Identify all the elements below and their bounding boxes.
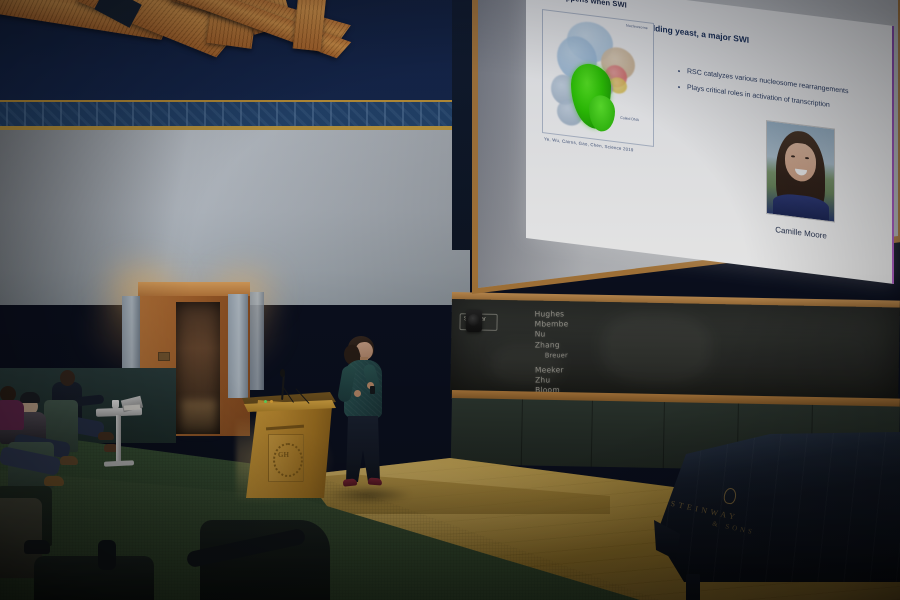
- coffee-cup: [112, 400, 119, 409]
- audience-member-shoe: [98, 432, 114, 440]
- chalkboard: Seminar Hughes Mbembe Nu Zhang Breuer Me…: [450, 299, 900, 403]
- pilaster-far-right: [250, 292, 264, 390]
- laurel-wreath-icon: [273, 443, 303, 477]
- audience-member-head: [60, 370, 75, 386]
- podium-led-amber: [270, 400, 273, 403]
- speaker-shoe-right: [368, 478, 382, 486]
- slide-figure: Nucleosome Coiled DNA: [542, 9, 654, 147]
- chalk-name: Zhu: [535, 375, 605, 386]
- foreground-chair-knob: [98, 540, 116, 570]
- podium-led-green: [264, 400, 267, 403]
- foreground-chair-2[interactable]: [34, 556, 154, 600]
- slide-bullet-list: RSC catalyzes various nucleosome rearran…: [638, 58, 894, 126]
- crest-initials: GH: [278, 451, 289, 459]
- audience-area: [0, 0, 200, 600]
- projection-screen: What happens when SWI In budding yeast, …: [466, 0, 900, 304]
- podium: GH: [236, 388, 342, 498]
- audience-member-shoe: [60, 456, 78, 465]
- presentation-clicker[interactable]: [370, 386, 375, 394]
- table-post: [116, 415, 121, 463]
- speaker-pants: [346, 416, 380, 482]
- pilaster-right: [228, 294, 248, 398]
- piano-leg: [686, 574, 700, 600]
- chalk-name: Zhang: [535, 340, 605, 351]
- audience-member-arm: [74, 394, 105, 406]
- portrait-caption: Camille Moore: [758, 223, 844, 243]
- chalk-name: Breuer: [545, 350, 605, 361]
- table-base: [104, 460, 134, 467]
- speaker-shoe-left: [343, 478, 358, 486]
- slide-title: What happens when SWI: [536, 0, 627, 10]
- molecular-structure-icon: [543, 10, 653, 146]
- projected-slide: What happens when SWI In budding yeast, …: [526, 0, 894, 284]
- projector-fringe: [892, 26, 894, 284]
- podium-body: GH: [246, 400, 332, 498]
- microphone-head-1: [280, 369, 285, 377]
- podium-slot: [266, 425, 304, 431]
- audience-member-hat: [20, 392, 40, 403]
- audience-member-torso: [0, 400, 24, 430]
- lecture-hall-photo: Seminar Hughes Mbembe Nu Zhang Breuer Me…: [0, 0, 900, 600]
- speaker-hand-left: [354, 390, 361, 397]
- speaker: [334, 336, 396, 494]
- audience-member-shoe: [44, 476, 64, 486]
- chalk-name: Meeker: [535, 365, 605, 376]
- audience-member-shoe: [24, 540, 50, 554]
- grand-piano: STEINWAY & SONS: [650, 424, 900, 600]
- chalk-name: Hughes: [535, 309, 605, 320]
- chalk-name: Nu: [535, 329, 605, 340]
- podium-crest: GH: [268, 434, 304, 482]
- chalk-name: Mbembe: [535, 319, 605, 330]
- portrait-photo: [766, 120, 835, 223]
- ceiling-speaker-icon: [466, 310, 482, 332]
